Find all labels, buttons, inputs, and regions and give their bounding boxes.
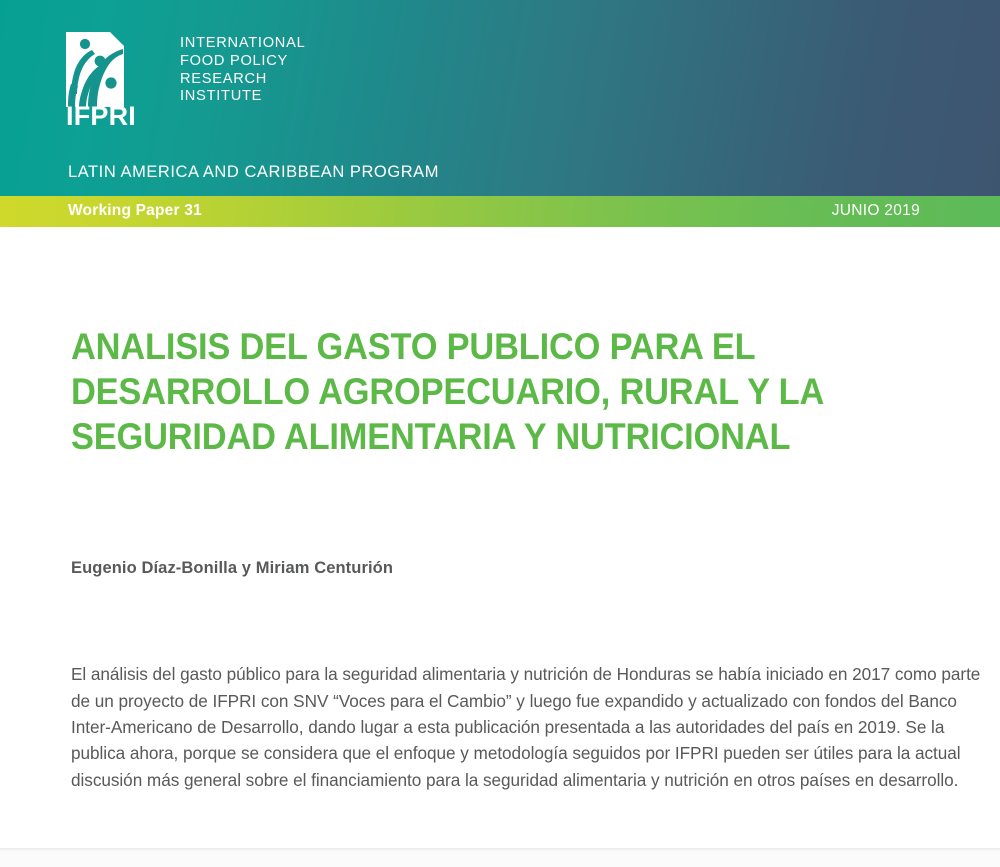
abstract-paragraph: El análisis del gasto público para la se… xyxy=(71,661,983,793)
page-title: ANALISIS DEL GASTO PUBLICO PARA EL DESAR… xyxy=(71,324,862,459)
header-band: IFPRI INTERNATIONAL FOOD POLICY RESEARCH… xyxy=(0,0,1000,196)
logo-wordmark-line-3: RESEARCH xyxy=(180,71,305,89)
ifpri-sprout-people-logo-icon xyxy=(66,32,124,107)
publication-date: JUNIO 2019 xyxy=(832,202,920,220)
logo-wordmark: INTERNATIONAL FOOD POLICY RESEARCH INSTI… xyxy=(180,35,305,106)
logo-wordmark-line-2: FOOD POLICY xyxy=(180,53,305,71)
series-banner: Working Paper 31 JUNIO 2019 xyxy=(0,196,1000,227)
program-name: LATIN AMERICA AND CARIBBEAN PROGRAM xyxy=(68,163,439,182)
logo-mark-wrap: IFPRI xyxy=(66,32,124,107)
logo-wordmark-line-4: INSTITUTE xyxy=(180,88,305,106)
logo-acronym: IFPRI xyxy=(66,103,136,130)
ifpri-logo: IFPRI INTERNATIONAL FOOD POLICY RESEARCH… xyxy=(66,32,305,107)
page-bottom-gutter xyxy=(0,851,1000,867)
logo-wordmark-line-1: INTERNATIONAL xyxy=(180,35,305,53)
authors-line: Eugenio Díaz-Bonilla y Miriam Centurión xyxy=(71,559,393,578)
cover-body: ANALISIS DEL GASTO PUBLICO PARA EL DESAR… xyxy=(0,227,1000,867)
working-paper-label: Working Paper 31 xyxy=(68,202,202,220)
